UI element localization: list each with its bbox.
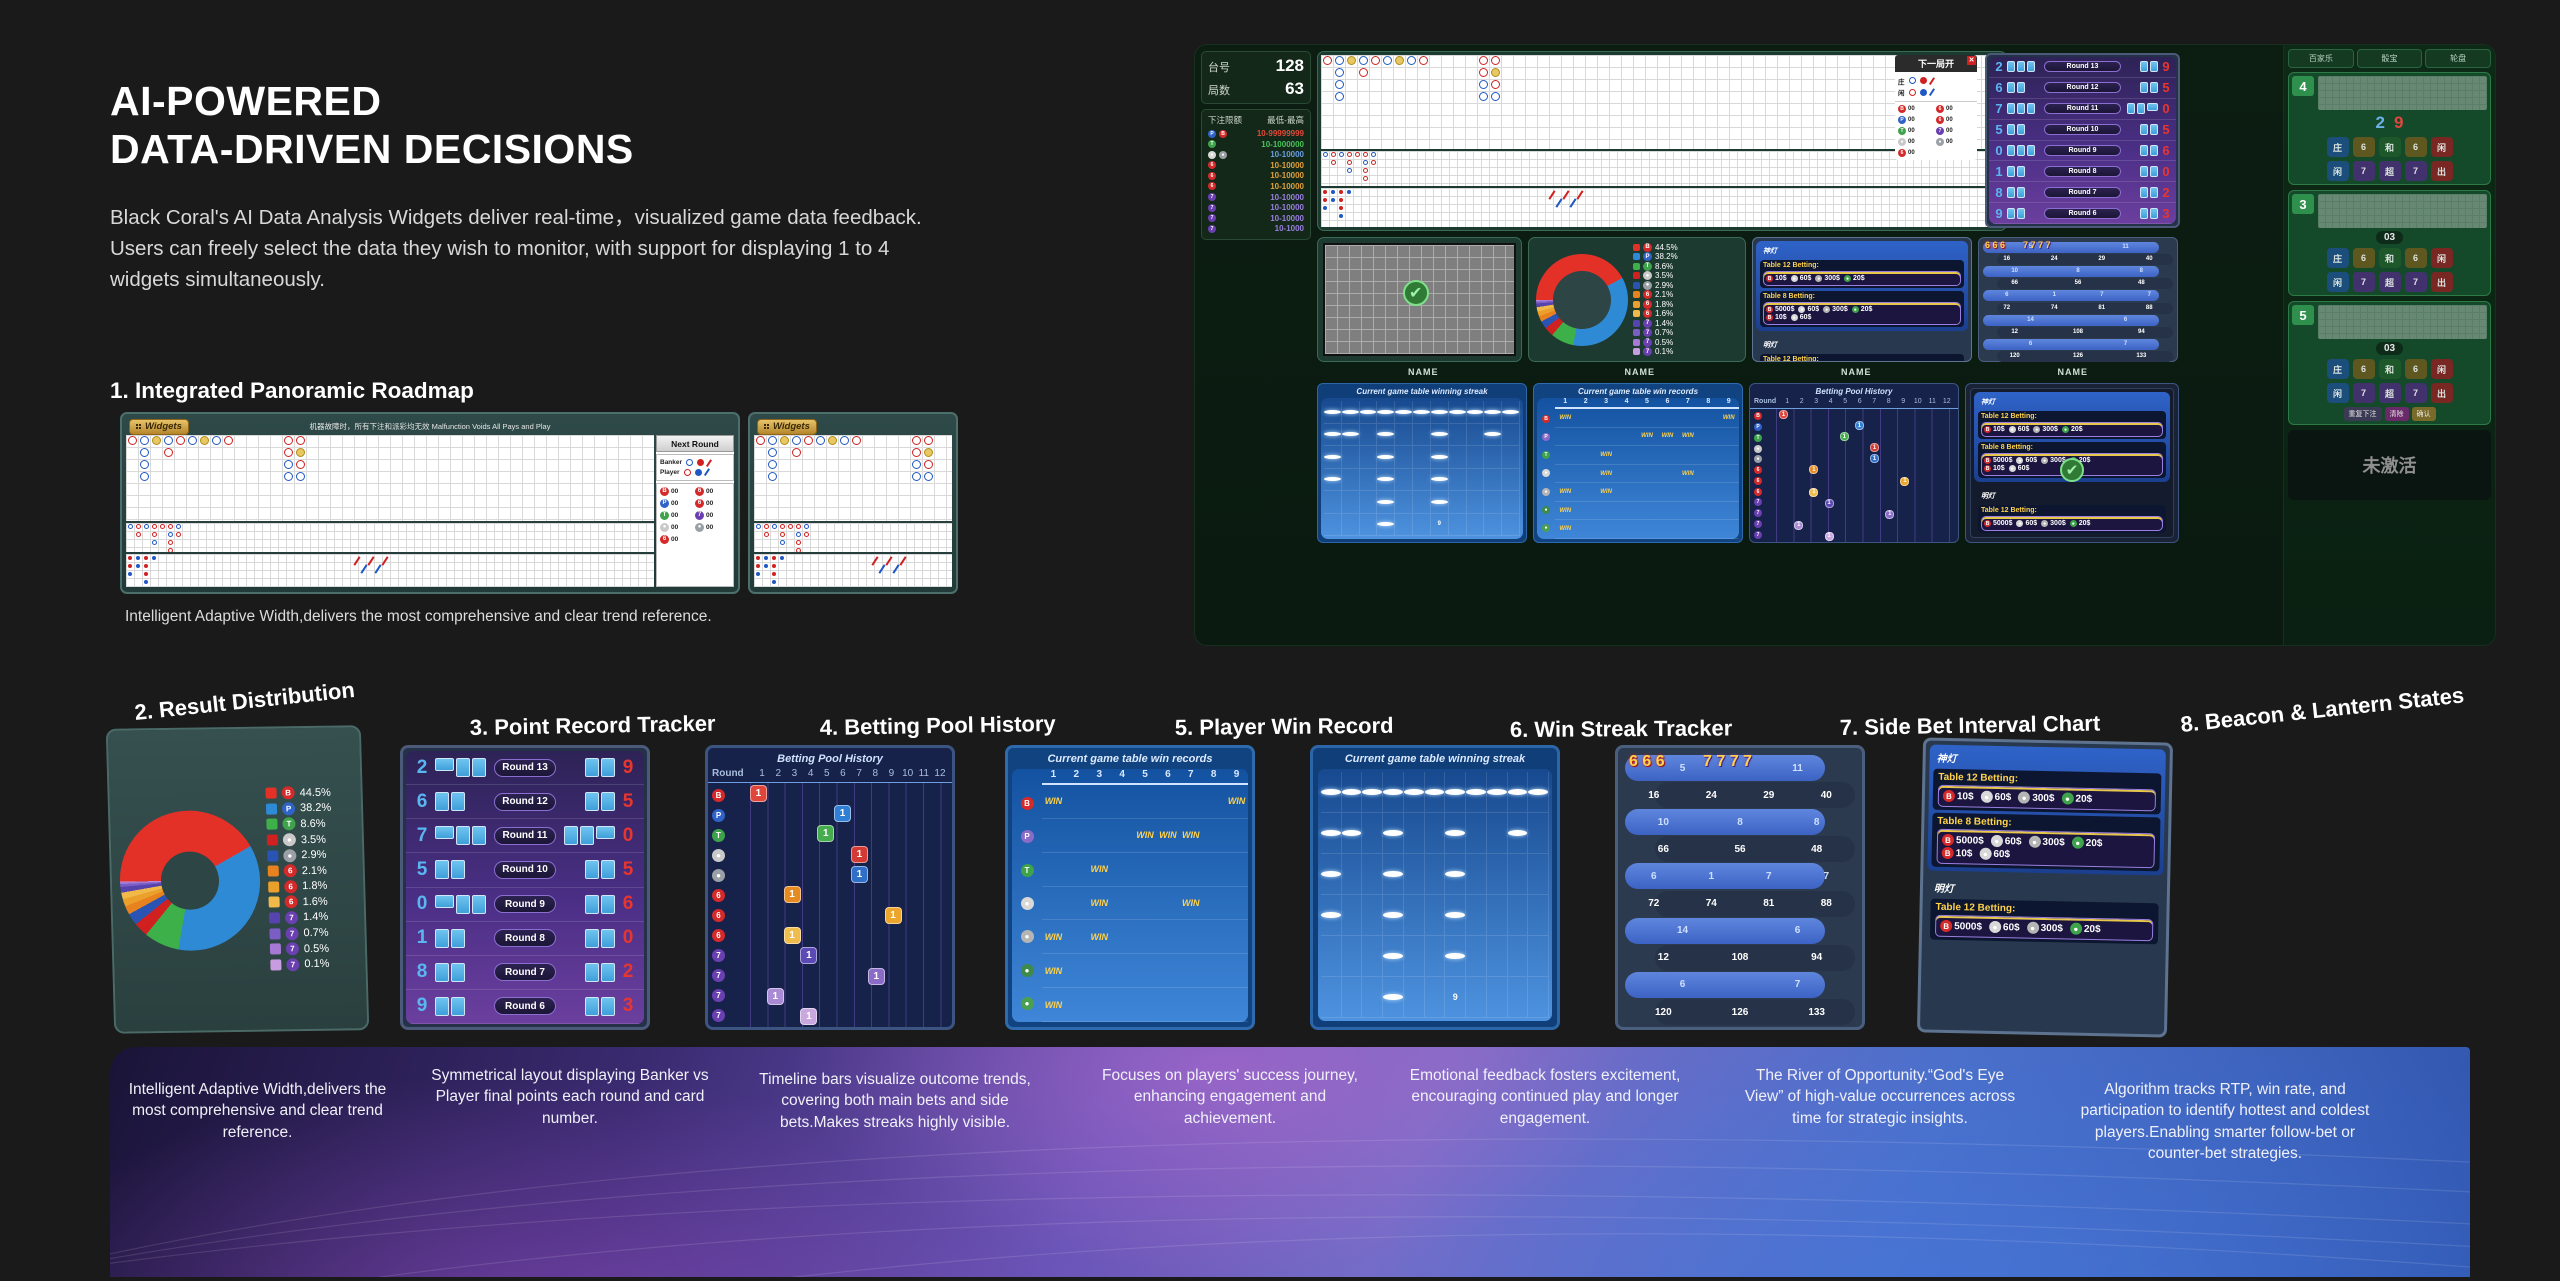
point-record-row[interactable]: 8 Round 7 2 [1989, 182, 2176, 203]
win-cell[interactable] [1657, 502, 1677, 520]
table-action-button[interactable]: 重复下注 [2344, 407, 2382, 421]
streak-cell[interactable] [1484, 446, 1502, 468]
pool-marker[interactable]: 1 [784, 886, 801, 903]
pool-marker[interactable]: 1 [1825, 532, 1834, 541]
win-cell[interactable]: WIN [1042, 988, 1065, 1021]
streak-cell[interactable] [1413, 401, 1431, 423]
win-cell[interactable] [1111, 819, 1134, 852]
streak-cell[interactable] [1360, 491, 1378, 513]
win-cell[interactable] [1225, 887, 1248, 920]
win-cell[interactable] [1637, 446, 1657, 464]
table-bet-options-2[interactable]: 闲 7 超 7 出 [2292, 383, 2487, 403]
streak-cell[interactable] [1467, 424, 1485, 446]
streak-cell[interactable] [1342, 936, 1363, 976]
streak-cell[interactable] [1487, 936, 1508, 976]
win-cell[interactable] [1111, 954, 1134, 987]
river-path[interactable]: 5111624294010886656486177727481881461210… [1625, 755, 1855, 1020]
win-cell[interactable] [1156, 853, 1179, 886]
win-cell[interactable]: WIN [1555, 520, 1575, 538]
streak-cell[interactable] [1502, 424, 1520, 446]
roadmap-grids[interactable] [126, 435, 654, 587]
win-cell[interactable] [1637, 483, 1657, 501]
streak-cell[interactable] [1342, 401, 1360, 423]
streak-cell[interactable] [1528, 977, 1549, 1017]
win-cell[interactable] [1575, 428, 1595, 446]
win-cell[interactable] [1637, 502, 1657, 520]
bet-out-icon[interactable]: 出 [2431, 383, 2453, 403]
win-cell[interactable] [1179, 785, 1202, 818]
win-cell[interactable] [1134, 954, 1157, 987]
bet-banker-icon[interactable]: 庄 [2327, 359, 2349, 379]
streak-cell[interactable] [1321, 772, 1342, 812]
streak-cell[interactable] [1404, 977, 1425, 1017]
win-cell[interactable] [1202, 954, 1225, 987]
bet-tie-icon[interactable]: 和 [2379, 137, 2401, 157]
win-cell[interactable] [1616, 465, 1636, 483]
pool-marker[interactable]: 1 [1885, 510, 1894, 519]
win-cell[interactable] [1088, 819, 1111, 852]
bet-banker-icon[interactable]: 庄 [2327, 248, 2349, 268]
win-streak-tracker-widget[interactable]: Current game table winning streak 9 [1310, 745, 1560, 1030]
panoramic-roadmap-wide[interactable]: Widgets 机器故障时，所有下注和派彩均无效 Malfunction Voi… [120, 412, 740, 594]
pool-marker[interactable]: 1 [1870, 454, 1879, 463]
streak-cell[interactable] [1528, 936, 1549, 976]
lantern-section[interactable]: 明灯 Table 12 Betting: B5000$●60$●300$●20$ [1974, 486, 2170, 537]
streak-cell[interactable] [1321, 854, 1342, 894]
win-cell[interactable] [1134, 988, 1157, 1021]
bet-tie-icon[interactable]: 和 [2379, 248, 2401, 268]
win-cell[interactable] [1678, 409, 1698, 427]
cockroach-grid[interactable] [126, 554, 654, 587]
lantern-section[interactable]: 神灯 Table 12 Betting: B10$●60$●300$●20$ T… [1927, 745, 2166, 876]
streak-cell[interactable] [1342, 491, 1360, 513]
win-cell[interactable] [1616, 520, 1636, 538]
win-cell[interactable] [1657, 446, 1677, 464]
win-cell[interactable] [1156, 920, 1179, 953]
streak-cell[interactable] [1342, 514, 1360, 536]
win-cell[interactable]: WIN [1555, 483, 1575, 501]
bet-tie-icon[interactable]: 和 [2379, 359, 2401, 379]
streak-cell[interactable] [1321, 936, 1342, 976]
streak-cell[interactable] [1404, 772, 1425, 812]
win-cell[interactable] [1202, 853, 1225, 886]
win-cell[interactable] [1575, 446, 1595, 464]
win-cell[interactable] [1719, 502, 1739, 520]
win-cell[interactable] [1179, 954, 1202, 987]
bet-6-icon[interactable]: 6 [2353, 359, 2375, 379]
streak-cell[interactable] [1502, 469, 1520, 491]
pool-marker[interactable]: 1 [1794, 521, 1803, 530]
streak-cell[interactable] [1487, 854, 1508, 894]
screenshot-table-list[interactable]: 百家乐骰宝轮盘 4 2 9 庄 6 和 6 闲 闲 7 超 7 出 3 [2283, 45, 2495, 645]
win-cell[interactable] [1042, 887, 1065, 920]
win-cell[interactable] [1698, 465, 1718, 483]
pool-marker[interactable]: 1 [767, 988, 784, 1005]
win-cell[interactable] [1719, 428, 1739, 446]
pool-marker[interactable]: 1 [784, 927, 801, 944]
lantern-table[interactable]: Table 8 Betting: B5000$●60$●300$●20$ B10… [1760, 291, 1964, 327]
streak-cell[interactable] [1377, 401, 1395, 423]
streak-cell[interactable] [1360, 446, 1378, 468]
donut-chart[interactable] [118, 809, 262, 951]
bet-out-icon[interactable]: 出 [2431, 272, 2453, 292]
streak-cell[interactable] [1467, 469, 1485, 491]
win-cell[interactable]: WIN [1678, 465, 1698, 483]
win-cell[interactable] [1065, 954, 1088, 987]
streak-cell[interactable] [1342, 977, 1363, 1017]
streak-cell[interactable] [1377, 446, 1395, 468]
streak-cell[interactable] [1324, 424, 1342, 446]
pool-marker[interactable]: 1 [800, 1008, 817, 1025]
streak-cell[interactable] [1467, 514, 1485, 536]
win-cell[interactable]: WIN [1088, 920, 1111, 953]
win-cell[interactable]: WIN [1596, 465, 1616, 483]
table-action-buttons[interactable]: 重复下注清除确认 [2292, 407, 2487, 421]
lantern-section[interactable]: 神灯 Table 12 Betting: B10$●60$●300$●20$ T… [1756, 241, 1968, 331]
win-cell[interactable] [1575, 502, 1595, 520]
win-cell[interactable]: WIN [1555, 409, 1575, 427]
bet-player-icon[interactable]: 闲 [2431, 137, 2453, 157]
win-cell[interactable] [1678, 502, 1698, 520]
win-cell[interactable] [1156, 785, 1179, 818]
streak-cell[interactable] [1360, 424, 1378, 446]
streak-cell[interactable] [1324, 514, 1342, 536]
streak-cell[interactable] [1324, 401, 1342, 423]
streak-cell[interactable] [1466, 854, 1487, 894]
streak-cell[interactable] [1484, 469, 1502, 491]
pool-marker[interactable]: 1 [834, 805, 851, 822]
streak-cell[interactable] [1508, 854, 1529, 894]
streak-cell[interactable] [1377, 424, 1395, 446]
win-cell[interactable]: WIN [1596, 483, 1616, 501]
screenshot-sidebar[interactable]: 台号 128 局数 63 下注限额 最低-最高 PB 10-99999999 T… [1201, 51, 1311, 639]
streak-cell[interactable] [1528, 895, 1549, 935]
win-cell[interactable] [1719, 520, 1739, 538]
streak-cell[interactable] [1362, 854, 1383, 894]
table-type-tab[interactable]: 轮盘 [2425, 49, 2491, 68]
betting-pool-history-widget[interactable]: Betting Pool History Round12345678910111… [705, 745, 955, 1030]
screenshot-map-panel[interactable]: ✔ [1317, 237, 1522, 362]
win-cell[interactable] [1065, 887, 1088, 920]
table-type-tab[interactable]: 百家乐 [2288, 49, 2354, 68]
bet-7b-icon[interactable]: 7 [2405, 383, 2427, 403]
win-cell[interactable] [1596, 502, 1616, 520]
point-record-row[interactable]: 6 Round 12 5 [406, 785, 644, 819]
screenshot-lantern-panel-2[interactable]: ✔ 神灯 Table 12 Betting: B10$●60$●300$●20$… [1965, 383, 2179, 543]
pool-marker[interactable]: 1 [1779, 410, 1788, 419]
win-cell[interactable] [1088, 954, 1111, 987]
streak-cell[interactable] [1362, 895, 1383, 935]
win-cell[interactable] [1065, 853, 1088, 886]
win-cell[interactable] [1616, 483, 1636, 501]
win-cell[interactable]: WIN [1088, 853, 1111, 886]
streak-cell[interactable] [1431, 401, 1449, 423]
win-cell[interactable] [1156, 887, 1179, 920]
bet-6b-icon[interactable]: 6 [2405, 359, 2427, 379]
streak-cell[interactable] [1431, 469, 1449, 491]
streak-cell[interactable] [1377, 514, 1395, 536]
win-cell[interactable] [1575, 520, 1595, 538]
win-cell[interactable] [1698, 446, 1718, 464]
streak-cell[interactable]: 9 [1431, 514, 1449, 536]
win-cell[interactable] [1111, 988, 1134, 1021]
lantern-table[interactable]: Table 12 Betting: B10$●60$●300$●20$ [1760, 260, 1964, 288]
win-cell[interactable] [1657, 409, 1677, 427]
win-cell[interactable] [1698, 409, 1718, 427]
cockroach-grid-narrow[interactable] [754, 554, 952, 587]
streak-cell[interactable] [1395, 424, 1413, 446]
table-bet-options-2[interactable]: 闲 7 超 7 出 [2292, 161, 2487, 181]
streak-cell[interactable] [1487, 813, 1508, 853]
win-cell[interactable] [1616, 409, 1636, 427]
table-action-button[interactable]: 清除 [2385, 407, 2409, 421]
point-record-row[interactable]: 1 Round 8 0 [1989, 161, 2176, 182]
win-cell[interactable] [1156, 954, 1179, 987]
streak-cell[interactable] [1362, 977, 1383, 1017]
point-record-tracker-widget[interactable]: 2 Round 13 9 6 Round 12 5 7 Round 11 0 5… [400, 745, 650, 1030]
bet-super-icon[interactable]: 超 [2379, 383, 2401, 403]
streak-cell[interactable] [1342, 895, 1363, 935]
streak-cell[interactable] [1360, 401, 1378, 423]
win-cell[interactable]: WIN [1042, 920, 1065, 953]
streak-cell[interactable] [1508, 977, 1529, 1017]
win-cell[interactable] [1179, 988, 1202, 1021]
streak-cell[interactable] [1324, 446, 1342, 468]
win-cell[interactable] [1156, 988, 1179, 1021]
pool-marker[interactable]: 1 [868, 968, 885, 985]
streak-cell[interactable] [1528, 854, 1549, 894]
streak-cell[interactable] [1321, 895, 1342, 935]
streak-cell[interactable] [1467, 401, 1485, 423]
screenshot-lantern-panel[interactable]: 神灯 Table 12 Betting: B10$●60$●300$●20$ T… [1752, 237, 1972, 362]
win-cell[interactable] [1088, 785, 1111, 818]
win-cell[interactable] [1678, 483, 1698, 501]
streak-cell[interactable] [1342, 469, 1360, 491]
streak-cell[interactable] [1508, 813, 1529, 853]
pool-marker[interactable]: 1 [1900, 477, 1909, 486]
pool-marker[interactable]: 1 [1870, 443, 1879, 452]
lantern-section[interactable]: 明灯 Table 12 Betting: B5000$●60$●300$●20$ [1926, 875, 2163, 949]
win-cell[interactable] [1575, 409, 1595, 427]
streak-cell[interactable] [1383, 772, 1404, 812]
streak-cell[interactable] [1362, 772, 1383, 812]
bet-player-icon[interactable]: 闲 [2431, 248, 2453, 268]
streak-cell[interactable] [1445, 936, 1466, 976]
win-cell[interactable] [1065, 920, 1088, 953]
screenshot-records-panel[interactable]: Current game table win records BPT●●●● 1… [1533, 383, 1743, 543]
win-cell[interactable] [1042, 819, 1065, 852]
table-bet-options-2[interactable]: 闲 7 超 7 出 [2292, 272, 2487, 292]
win-cell[interactable]: WIN [1225, 785, 1248, 818]
win-cell[interactable] [1698, 502, 1718, 520]
lantern-table[interactable]: Table 12 Betting: B10$●60$●300$●20$ [1978, 411, 2166, 439]
streak-cell[interactable] [1383, 936, 1404, 976]
betting-pool-grid[interactable]: 111111111111 [750, 783, 952, 1027]
lantern-table[interactable]: Table 8 Betting: B5000$●60$●300$●20$ B10… [1931, 813, 2160, 872]
streak-cell[interactable] [1321, 977, 1342, 1017]
streak-cell[interactable] [1395, 514, 1413, 536]
bet-7-icon[interactable]: 7 [2353, 383, 2375, 403]
streak-cell[interactable] [1449, 469, 1467, 491]
bet-6-icon[interactable]: 6 [2353, 137, 2375, 157]
screenshot-pool-panel[interactable]: Betting Pool History Round12345678910111… [1749, 383, 1959, 543]
table-card[interactable]: 3 03 庄 6 和 6 闲 闲 7 超 7 出 [2288, 190, 2491, 296]
streak-cell[interactable] [1395, 446, 1413, 468]
streak-cell[interactable] [1425, 813, 1446, 853]
streak-cell[interactable] [1342, 813, 1363, 853]
streak-cell[interactable] [1383, 895, 1404, 935]
win-cell[interactable] [1678, 446, 1698, 464]
win-cell[interactable]: WIN [1042, 785, 1065, 818]
lantern-table[interactable]: Table 12 Betting: B5000$●60$●300$●20$ [1760, 354, 1964, 362]
win-cell[interactable] [1111, 887, 1134, 920]
win-cell[interactable]: WIN [1156, 819, 1179, 852]
streak-cell[interactable] [1413, 514, 1431, 536]
win-cell[interactable] [1202, 887, 1225, 920]
streak-cell[interactable] [1404, 813, 1425, 853]
win-cell[interactable]: WIN [1088, 887, 1111, 920]
streak-cell[interactable] [1413, 469, 1431, 491]
win-cell[interactable] [1225, 819, 1248, 852]
streak-cell[interactable] [1466, 895, 1487, 935]
win-cell[interactable] [1698, 520, 1718, 538]
streak-cell[interactable] [1362, 936, 1383, 976]
screenshot-cockroach[interactable] [1321, 188, 2003, 227]
win-cell[interactable] [1637, 465, 1657, 483]
win-cell[interactable] [1698, 428, 1718, 446]
beacon-lantern-widget[interactable]: 神灯 Table 12 Betting: B10$●60$●300$●20$ T… [1917, 737, 2173, 1037]
win-cell[interactable]: WIN [1179, 887, 1202, 920]
win-cell[interactable] [1657, 465, 1677, 483]
streak-cell[interactable] [1342, 854, 1363, 894]
point-record-row[interactable]: 5 Round 10 5 [406, 853, 644, 887]
bet-banker-icon[interactable]: 庄 [2327, 137, 2349, 157]
widgets-button[interactable]: Widgets [129, 419, 189, 435]
win-cell[interactable] [1575, 465, 1595, 483]
roadmap-grids-narrow[interactable] [754, 435, 952, 587]
streak-cell[interactable] [1484, 424, 1502, 446]
win-cell[interactable] [1596, 520, 1616, 538]
streak-cell[interactable] [1484, 514, 1502, 536]
win-cell[interactable] [1202, 785, 1225, 818]
screenshot-streak-panel[interactable]: Current game table winning streak 9 [1317, 383, 1527, 543]
bet-super-icon[interactable]: 超 [2379, 161, 2401, 181]
streak-cell[interactable] [1383, 854, 1404, 894]
win-cell[interactable] [1225, 920, 1248, 953]
win-cell[interactable]: WIN [1134, 819, 1157, 852]
win-cell[interactable]: WIN [1657, 428, 1677, 446]
bet-7b-icon[interactable]: 7 [2405, 272, 2427, 292]
win-cell[interactable]: WIN [1042, 954, 1065, 987]
win-cell[interactable] [1202, 988, 1225, 1021]
win-cell[interactable]: WIN [1596, 446, 1616, 464]
win-cell[interactable] [1134, 887, 1157, 920]
streak-cell[interactable] [1324, 469, 1342, 491]
big-road-grid[interactable] [126, 435, 654, 521]
streak-cell[interactable] [1425, 977, 1446, 1017]
win-cell[interactable] [1042, 853, 1065, 886]
streak-cell[interactable] [1487, 772, 1508, 812]
win-record-grid[interactable]: 123456789 WINWINWINWINWINWINWINWINWINWIN… [1042, 769, 1248, 1022]
streak-cell[interactable] [1502, 491, 1520, 513]
bet-player2-icon[interactable]: 闲 [2327, 272, 2349, 292]
bet-6b-icon[interactable]: 6 [2405, 248, 2427, 268]
win-cell[interactable] [1088, 988, 1111, 1021]
win-cell[interactable] [1555, 465, 1575, 483]
streak-cell[interactable] [1342, 446, 1360, 468]
bet-7-icon[interactable]: 7 [2353, 161, 2375, 181]
win-cell[interactable]: WIN [1719, 409, 1739, 427]
streak-cell[interactable] [1449, 446, 1467, 468]
win-cell[interactable] [1179, 853, 1202, 886]
win-cell[interactable] [1202, 819, 1225, 852]
table-type-tabs[interactable]: 百家乐骰宝轮盘 [2288, 49, 2491, 68]
streak-cell[interactable] [1404, 895, 1425, 935]
win-cell[interactable] [1065, 988, 1088, 1021]
point-record-row[interactable]: 0 Round 9 6 [406, 888, 644, 922]
table-cards[interactable]: 4 2 9 庄 6 和 6 闲 闲 7 超 7 出 3 [2288, 72, 2491, 425]
streak-cell[interactable] [1449, 514, 1467, 536]
lantern-section[interactable]: 明灯 Table 12 Betting: B5000$●60$●300$●20$ [1756, 335, 1968, 362]
streak-cell[interactable] [1321, 813, 1342, 853]
pool-marker[interactable]: 1 [817, 825, 834, 842]
panoramic-roadmap-narrow[interactable]: Widgets [748, 412, 958, 594]
screenshot-river-panel[interactable]: 5111624294010886656486177727481881461210… [1978, 237, 2178, 362]
streak-cell[interactable] [1342, 772, 1363, 812]
win-cell[interactable] [1202, 920, 1225, 953]
streak-cell[interactable] [1431, 424, 1449, 446]
pool-marker[interactable]: 1 [1840, 432, 1849, 441]
screenshot-next-round-popup[interactable]: 下一局开 ✕ 庄 闲 B00 600 P00 600 T00 700 ●00 ●… [1895, 55, 1977, 160]
win-cell[interactable] [1555, 428, 1575, 446]
player-win-record-widget[interactable]: Current game table win records BPT●●●● 1… [1005, 745, 1255, 1030]
pool-marker[interactable]: 1 [851, 846, 868, 863]
point-record-row[interactable]: 9 Round 6 3 [1989, 203, 2176, 224]
win-cell[interactable] [1678, 520, 1698, 538]
pool-marker[interactable]: 1 [1825, 499, 1834, 508]
result-distribution-widget[interactable]: B 44.5% P 38.2% T 8.6% ● 3.5% ● 2.9% 6 2… [106, 725, 370, 1033]
win-cell[interactable] [1555, 446, 1575, 464]
table-action-button[interactable]: 确认 [2412, 407, 2436, 421]
streak-cell[interactable] [1404, 936, 1425, 976]
bet-player2-icon[interactable]: 闲 [2327, 161, 2349, 181]
streak-cell[interactable] [1377, 469, 1395, 491]
big-road-grid-narrow[interactable] [754, 435, 952, 521]
streak-cell[interactable] [1362, 813, 1383, 853]
point-record-row[interactable]: 0 Round 9 6 [1989, 141, 2176, 162]
table-bet-options[interactable]: 庄 6 和 6 闲 [2292, 359, 2487, 379]
streak-cell[interactable] [1445, 772, 1466, 812]
pool-marker[interactable]: 1 [1809, 465, 1818, 474]
table-card[interactable]: 5 03 庄 6 和 6 闲 闲 7 超 7 出 重复下注清除确认 [2288, 301, 2491, 425]
streak-cell[interactable] [1413, 424, 1431, 446]
next-round-panel[interactable]: Next Round Banker Player B00 600 P00 [656, 435, 734, 587]
bet-6b-icon[interactable]: 6 [2405, 137, 2427, 157]
bet-7b-icon[interactable]: 7 [2405, 161, 2427, 181]
streak-cell[interactable] [1502, 446, 1520, 468]
win-cell[interactable] [1134, 920, 1157, 953]
win-cell[interactable] [1225, 954, 1248, 987]
streak-cell[interactable] [1528, 772, 1549, 812]
streak-cell[interactable] [1449, 424, 1467, 446]
streak-cell[interactable] [1467, 491, 1485, 513]
streak-cell[interactable] [1467, 446, 1485, 468]
streak-cell[interactable] [1502, 401, 1520, 423]
win-cell[interactable] [1698, 483, 1718, 501]
lantern-table[interactable]: Table 12 Betting: B10$●60$●300$●20$ [1933, 769, 2162, 815]
win-cell[interactable] [1225, 988, 1248, 1021]
win-cell[interactable]: WIN [1678, 428, 1698, 446]
